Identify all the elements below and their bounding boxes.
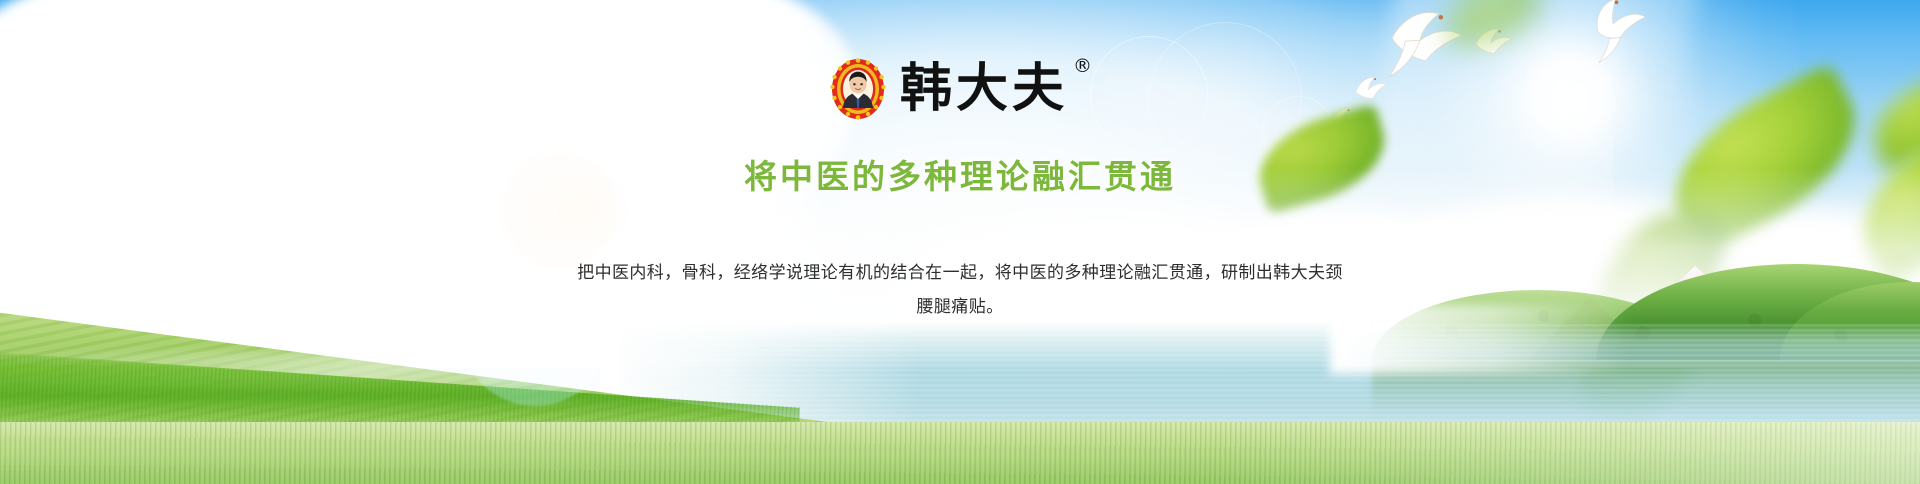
banner-content: 韩大夫 ® 将中医的多种理论融汇贯通 把中医内科，骨科，经络学说理论有机的结合在… bbox=[0, 0, 1920, 324]
description-paragraph: 把中医内科，骨科，经络学说理论有机的结合在一起，将中医的多种理论融汇贯通，研制出… bbox=[569, 256, 1351, 324]
brand-logo[interactable]: 韩大夫 ® bbox=[830, 58, 1090, 120]
brand-logo-characters: 韩大夫 bbox=[900, 58, 1068, 119]
registered-trademark-mark: ® bbox=[1073, 57, 1092, 76]
brand-logo-text: 韩大夫 ® bbox=[900, 63, 1090, 115]
meadow-fade bbox=[1220, 422, 1920, 484]
doctor-portrait-badge-icon bbox=[830, 58, 886, 120]
hero-banner: 韩大夫 ® 将中医的多种理论融汇贯通 把中医内科，骨科，经络学说理论有机的结合在… bbox=[0, 0, 1920, 484]
headline: 将中医的多种理论融汇贯通 bbox=[0, 150, 1920, 198]
